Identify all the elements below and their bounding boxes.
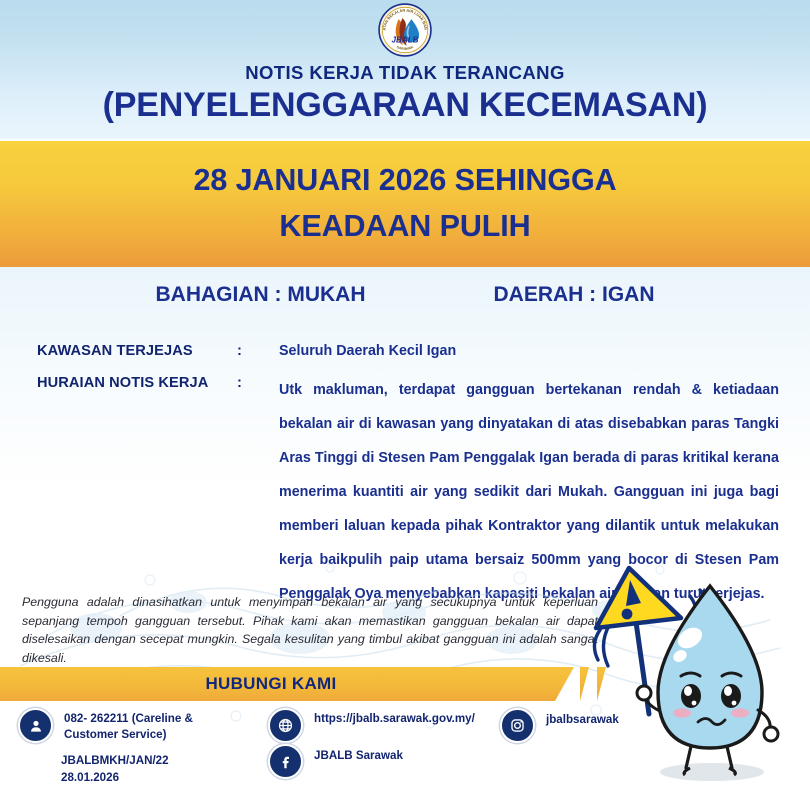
date-banner: 28 JANUARI 2026 SEHINGGA KEADAAN PULIH <box>0 141 810 267</box>
contact-reference: JBALBMKH/JAN/22 28.01.2026 <box>61 752 169 787</box>
header-title: (PENYELENGGARAAN KECEMASAN) <box>0 86 810 125</box>
affected-area-colon: : <box>237 343 279 359</box>
contact-facebook-text: JBALB Sarawak <box>314 744 403 764</box>
notice-poster: JBALB JABATAN BEKALAN AIR LUAR BANDAR SA… <box>0 0 810 810</box>
field-notice-description: HURAIAN NOTIS KERJA : <box>37 375 279 391</box>
date-banner-line2: KEADAAN PULIH <box>193 204 616 250</box>
district-label: DAERAH : IGAN <box>493 283 654 307</box>
svg-text:JBALB: JBALB <box>392 35 419 44</box>
facebook-icon <box>268 744 303 779</box>
affected-area-label: KAWASAN TERJEJAS <box>37 343 237 359</box>
notice-description-label: HURAIAN NOTIS KERJA <box>37 375 237 391</box>
division-label: BAHAGIAN : MUKAH <box>156 283 366 307</box>
notice-description-colon: : <box>237 375 279 391</box>
region-row: BAHAGIAN : MUKAH DAERAH : IGAN <box>0 283 810 307</box>
water-droplet-mascot <box>586 556 810 810</box>
contact-website-text: https://jbalb.sarawak.gov.my/ <box>314 708 475 727</box>
contact-website[interactable]: https://jbalb.sarawak.gov.my/ <box>268 708 475 743</box>
jbalb-logo: JBALB JABATAN BEKALAN AIR LUAR BANDAR SA… <box>378 3 432 57</box>
instagram-icon <box>500 708 535 743</box>
field-affected-area: KAWASAN TERJEJAS : Seluruh Daerah Kecil … <box>37 343 456 359</box>
contact-instagram-text: jbalbsarawak <box>546 708 619 728</box>
header-subtitle: NOTIS KERJA TIDAK TERANCANG <box>0 62 810 84</box>
disclaimer-text: Pengguna adalah dinasihatkan untuk menyi… <box>22 593 598 667</box>
globe-icon <box>268 708 303 743</box>
poster-header: JBALB JABATAN BEKALAN AIR LUAR BANDAR SA… <box>0 0 810 139</box>
contact-band-title: HUBUNGI KAMI <box>205 674 336 694</box>
contact-instagram[interactable]: jbalbsarawak <box>500 708 619 743</box>
person-icon <box>18 708 53 743</box>
contact-facebook[interactable]: JBALB Sarawak <box>268 744 403 779</box>
contact-phone[interactable]: 082- 262211 (Careline & Customer Service… <box>18 708 248 744</box>
date-banner-line1: 28 JANUARI 2026 SEHINGGA <box>193 158 616 204</box>
contact-band: HUBUNGI KAMI <box>0 667 574 701</box>
affected-area-value: Seluruh Daerah Kecil Igan <box>279 343 456 359</box>
contact-phone-text: 082- 262211 (Careline & Customer Service… <box>64 708 248 744</box>
